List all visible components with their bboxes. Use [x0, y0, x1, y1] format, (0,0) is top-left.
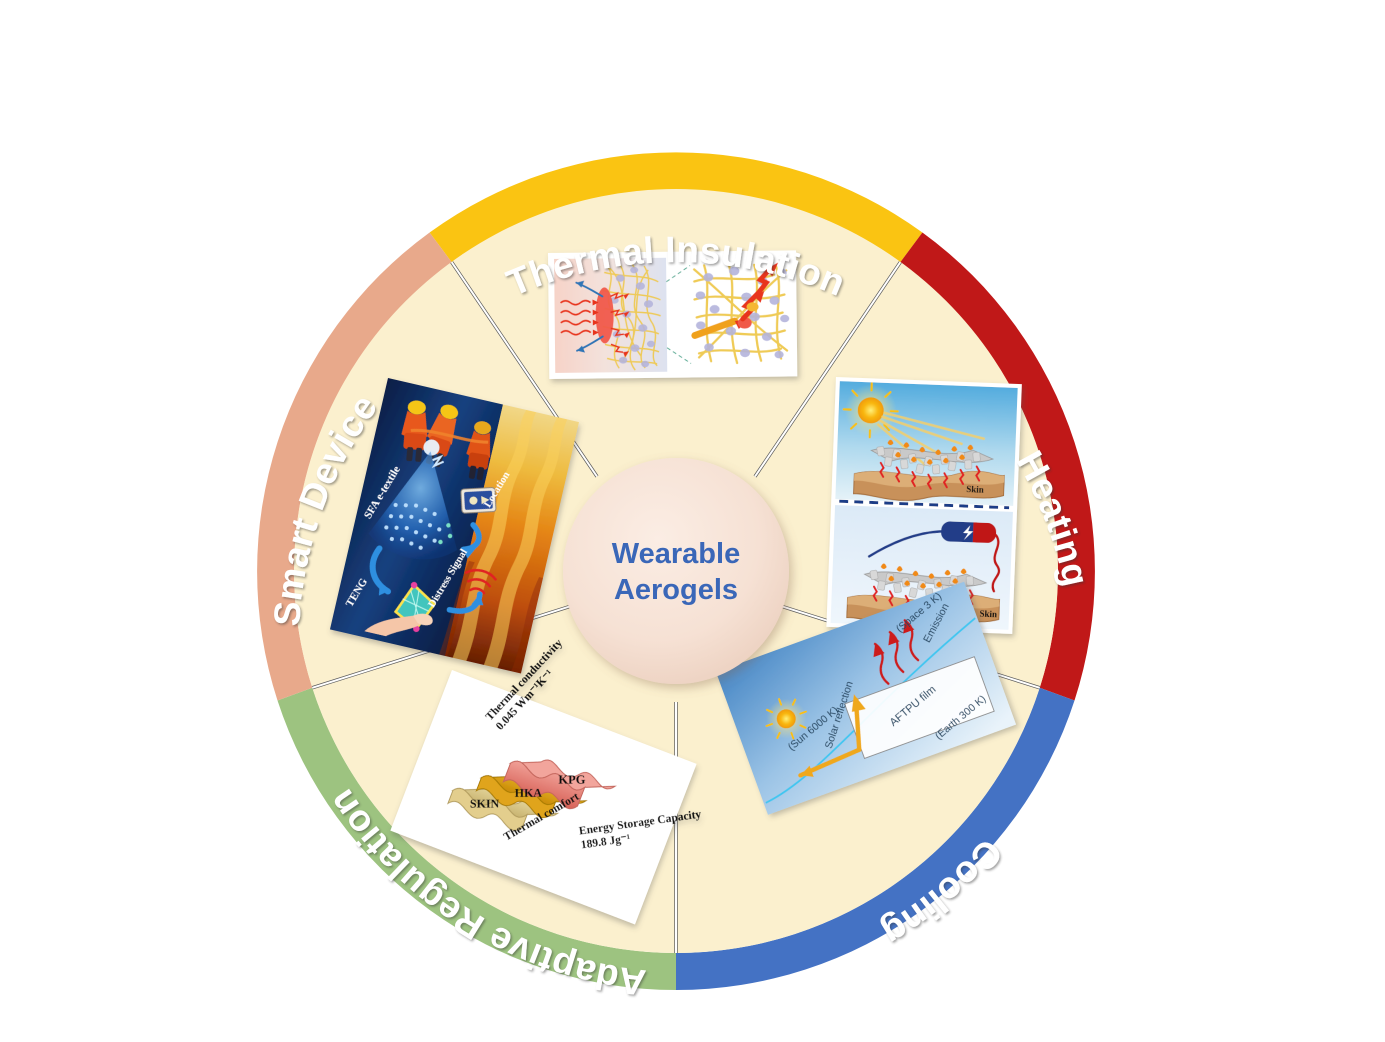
- label-hka: HKA: [515, 786, 543, 800]
- label-skin: SKIN: [470, 797, 500, 811]
- solar-heating-scene: Skin: [835, 381, 1017, 506]
- panel-heating[interactable]: Skin: [826, 377, 1021, 634]
- heating-skin-label-top: Skin: [966, 484, 984, 495]
- hub-title-line2: Aerogels: [614, 574, 738, 606]
- hub-title-line1: Wearable: [612, 538, 740, 570]
- center-hub[interactable]: Wearable Aerogels: [563, 458, 789, 684]
- wheel-diagram: Skin: [0, 0, 1385, 1042]
- figure-canvas: Skin: [0, 0, 1385, 1042]
- label-kpg: KPG: [558, 773, 585, 787]
- battery-icon: [941, 521, 997, 543]
- heating-skin-label-bottom: Skin: [979, 609, 997, 620]
